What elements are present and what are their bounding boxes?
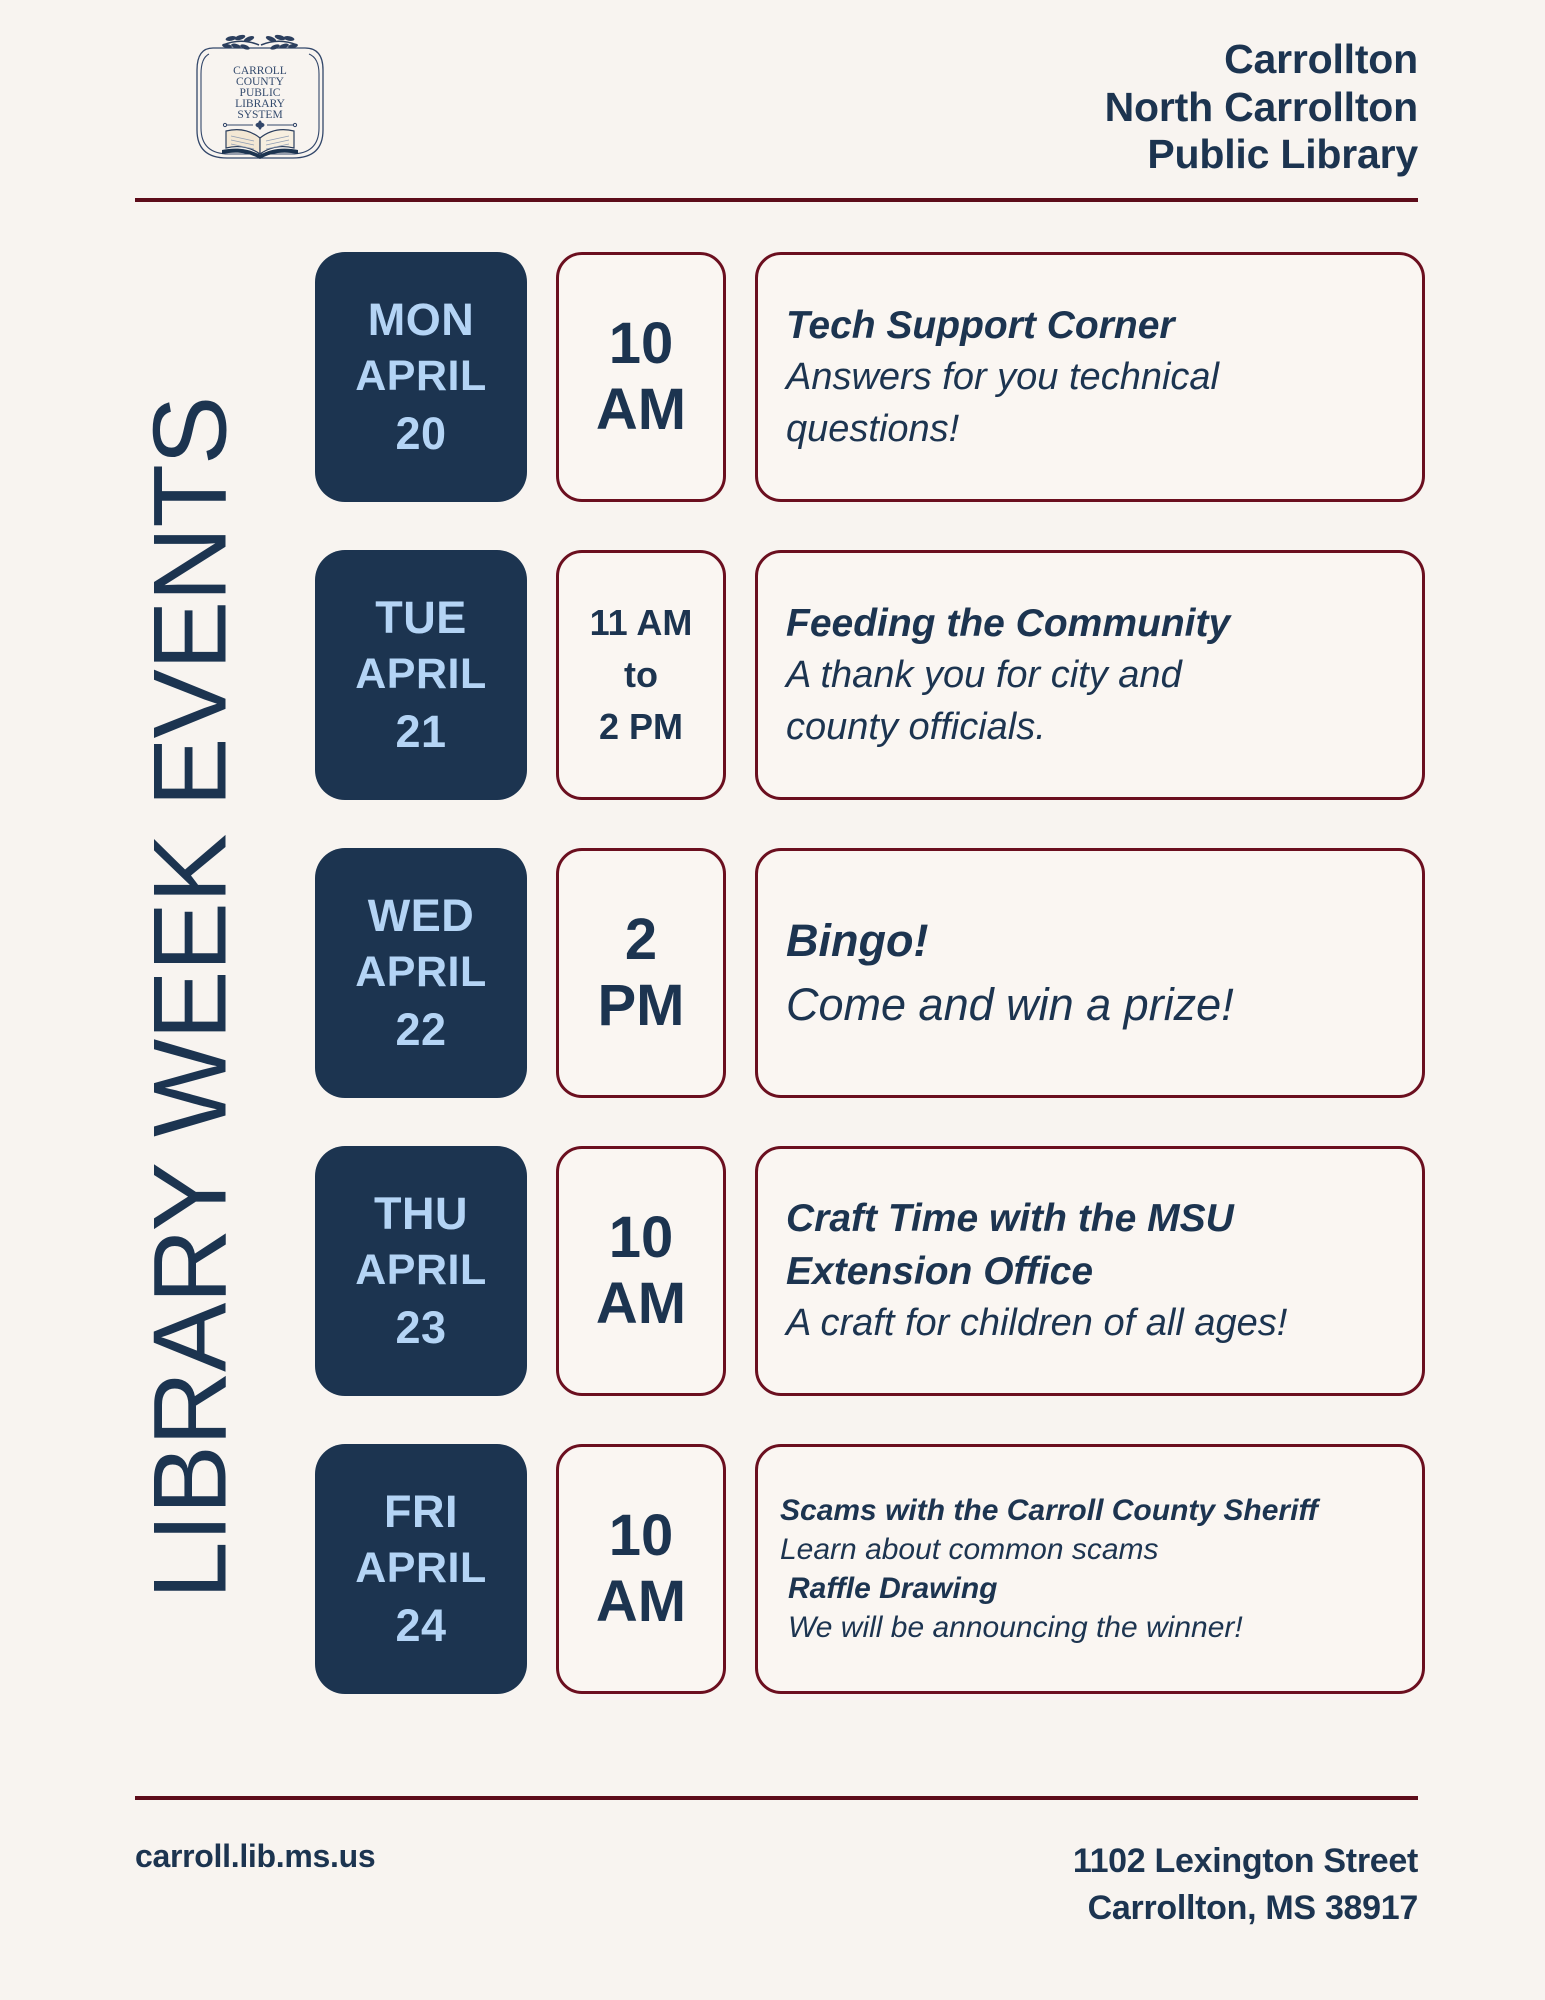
event-card: Tech Support Corner Answers for you tech…	[755, 252, 1425, 502]
event-description-line: A craft for children of all ages!	[786, 1298, 1396, 1350]
date-chip-date: 22	[395, 1001, 446, 1060]
events-schedule: MON APRIL 20 10 AM Tech Support Corner A…	[315, 252, 1425, 1694]
time-chip-line: 2 PM	[599, 701, 683, 753]
time-chip-line: to	[624, 649, 658, 701]
time-chip-line: 10	[609, 1205, 674, 1271]
date-chip: FRI APRIL 24	[315, 1444, 527, 1694]
time-chip: 10 AM	[556, 1444, 726, 1694]
event-description-line: A thank you for city and	[786, 650, 1396, 702]
date-chip-month: APRIL	[355, 1541, 487, 1597]
time-chip: 10 AM	[556, 1146, 726, 1396]
time-chip-line: PM	[598, 973, 685, 1039]
page-title-line-3: Public Library	[1105, 131, 1418, 179]
page-footer: carroll.lib.ms.us 1102 Lexington Street …	[135, 1838, 1418, 1968]
time-chip-line: 10	[609, 311, 674, 377]
time-chip-line: 11 AM	[590, 597, 693, 649]
event-title: Scams with the Carroll County Sheriff	[780, 1491, 1402, 1530]
page-title: Carrollton North Carrollton Public Libra…	[1105, 36, 1418, 179]
page-title-line-2: North Carrollton	[1105, 84, 1418, 132]
vertical-title-text: LIBRARY WEEK EVENTS	[132, 396, 251, 1598]
event-description-line: Learn about common scams	[780, 1530, 1402, 1569]
event-card: Craft Time with the MSU Extension Office…	[755, 1146, 1425, 1396]
date-chip-date: 20	[395, 405, 446, 464]
page-title-line-1: Carrollton	[1105, 36, 1418, 84]
date-chip-day: FRI	[384, 1483, 458, 1542]
time-chip: 11 AM to 2 PM	[556, 550, 726, 800]
date-chip-day: MON	[368, 291, 475, 350]
date-chip-day: TUE	[375, 589, 467, 648]
event-description-line: We will be announcing the winner!	[780, 1608, 1402, 1647]
event-description-line: questions!	[786, 404, 1396, 456]
event-title-line: Extension Office	[786, 1245, 1396, 1298]
address-line-2: Carrollton, MS 38917	[1073, 1885, 1418, 1932]
time-chip-line: AM	[596, 1271, 686, 1337]
address-line-1: 1102 Lexington Street	[1073, 1838, 1418, 1885]
logo-line-4: SYSTEM	[237, 109, 282, 121]
divider-bottom	[135, 1796, 1418, 1800]
event-row: MON APRIL 20 10 AM Tech Support Corner A…	[315, 252, 1425, 502]
event-title: Feeding the Community	[786, 597, 1396, 650]
event-card: Bingo! Come and win a prize!	[755, 848, 1425, 1098]
event-title: Bingo!	[786, 909, 1396, 973]
event-row: WED APRIL 22 2 PM Bingo! Come and win a …	[315, 848, 1425, 1098]
library-crest-icon: CARROLL COUNTY PUBLIC LIBRARY SYSTEM	[175, 18, 345, 188]
event-description-line: Answers for you technical	[786, 352, 1396, 404]
event-description-line: Come and win a prize!	[786, 973, 1396, 1037]
event-card: Feeding the Community A thank you for ci…	[755, 550, 1425, 800]
date-chip-date: 24	[395, 1597, 446, 1656]
date-chip-month: APRIL	[355, 647, 487, 703]
event-card: Scams with the Carroll County Sheriff Le…	[755, 1444, 1425, 1694]
page-header: CARROLL COUNTY PUBLIC LIBRARY SYSTEM	[0, 0, 1545, 200]
date-chip-day: WED	[368, 887, 475, 946]
date-chip-date: 23	[395, 1299, 446, 1358]
vertical-title: LIBRARY WEEK EVENTS	[128, 205, 254, 1790]
time-chip: 2 PM	[556, 848, 726, 1098]
date-chip: MON APRIL 20	[315, 252, 527, 502]
event-row: TUE APRIL 21 11 AM to 2 PM Feeding the C…	[315, 550, 1425, 800]
event-title: Tech Support Corner	[786, 299, 1396, 352]
date-chip-month: APRIL	[355, 1243, 487, 1299]
divider-top	[135, 198, 1418, 202]
event-title-line: Craft Time with the MSU	[786, 1192, 1396, 1245]
date-chip-month: APRIL	[355, 349, 487, 405]
date-chip-day: THU	[374, 1185, 468, 1244]
time-chip-line: AM	[596, 377, 686, 443]
date-chip-date: 21	[395, 703, 446, 762]
event-row: FRI APRIL 24 10 AM Scams with the Carrol…	[315, 1444, 1425, 1694]
time-chip-line: 2	[625, 907, 657, 973]
date-chip: WED APRIL 22	[315, 848, 527, 1098]
event-title: Raffle Drawing	[780, 1569, 1402, 1608]
time-chip-line: 10	[609, 1503, 674, 1569]
event-description-line: county officials.	[786, 702, 1396, 754]
time-chip: 10 AM	[556, 252, 726, 502]
date-chip-month: APRIL	[355, 945, 487, 1001]
website-link[interactable]: carroll.lib.ms.us	[135, 1838, 375, 1875]
date-chip: TUE APRIL 21	[315, 550, 527, 800]
address-block: 1102 Lexington Street Carrollton, MS 389…	[1073, 1838, 1418, 1932]
event-row: THU APRIL 23 10 AM Craft Time with the M…	[315, 1146, 1425, 1396]
time-chip-line: AM	[596, 1569, 686, 1635]
date-chip: THU APRIL 23	[315, 1146, 527, 1396]
